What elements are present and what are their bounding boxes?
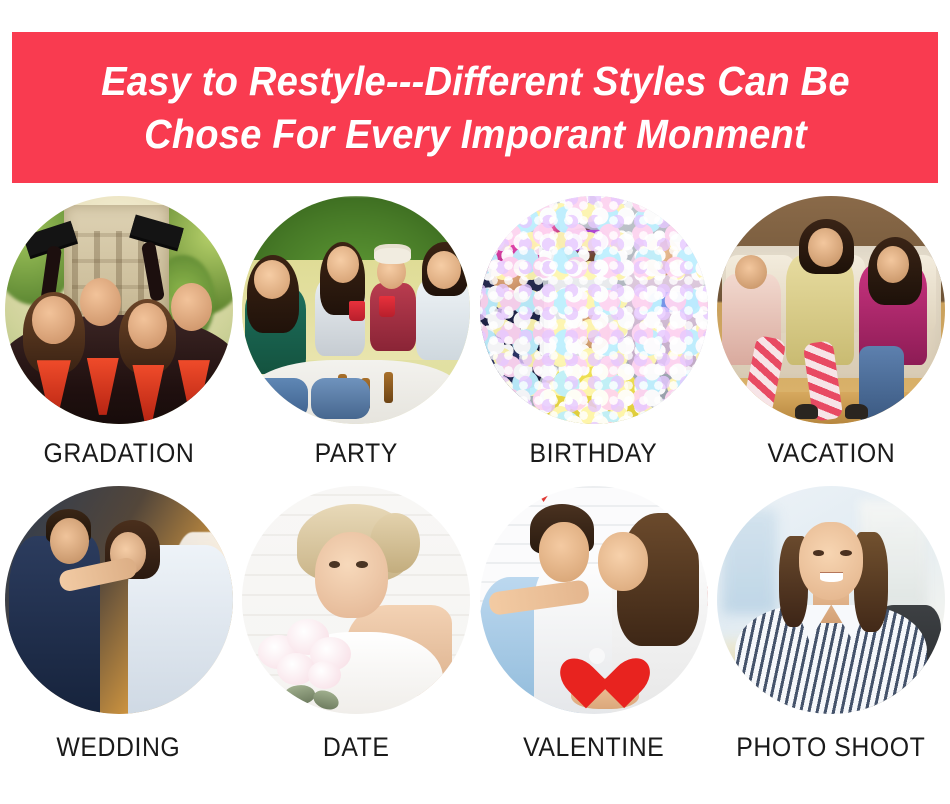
party-photo[interactable] <box>242 196 470 424</box>
occasion-item-wedding[interactable]: WEDDING <box>0 486 238 776</box>
occasion-label: BIRTHDAY <box>530 440 658 467</box>
product-promo-page: Easy to Restyle---Different Styles Can B… <box>0 0 950 804</box>
occasion-item-party[interactable]: PARTY <box>238 196 476 486</box>
headline-text: Easy to Restyle---Different Styles Can B… <box>101 55 850 160</box>
occasion-item-date[interactable]: DATE <box>238 486 476 776</box>
headline-banner: Easy to Restyle---Different Styles Can B… <box>12 32 938 183</box>
valentine-scene <box>480 486 708 714</box>
occasion-item-birthday[interactable]: BIRTHDAY <box>475 196 713 486</box>
wedding-photo[interactable] <box>5 486 233 714</box>
occasion-label: DATE <box>323 734 390 761</box>
valentine-photo[interactable] <box>480 486 708 714</box>
photo-shoot-scene <box>717 486 945 714</box>
gradation-photo[interactable] <box>5 196 233 424</box>
occasion-label: PHOTO SHOOT <box>737 734 926 761</box>
occasion-label: GRADATION <box>43 440 194 467</box>
occasion-label: WEDDING <box>57 734 181 761</box>
birthday-scene <box>480 196 708 424</box>
vacation-scene <box>717 196 945 424</box>
heart-icon <box>576 636 635 691</box>
occasion-label: VALENTINE <box>523 734 664 761</box>
occasion-item-photo-shoot[interactable]: PHOTO SHOOT <box>713 486 950 776</box>
occasion-row-1: GRADATION <box>0 196 950 486</box>
occasion-label: VACATION <box>767 440 895 467</box>
occasion-row-2: WEDDING <box>0 486 950 776</box>
date-scene <box>242 486 470 714</box>
party-scene <box>242 196 470 424</box>
graduation-scene <box>5 196 233 424</box>
occasion-grid: GRADATION <box>0 196 950 776</box>
photo-shoot-photo[interactable] <box>717 486 945 714</box>
occasion-label: PARTY <box>315 440 398 467</box>
vacation-photo[interactable] <box>717 196 945 424</box>
occasion-item-valentine[interactable]: VALENTINE <box>475 486 713 776</box>
date-photo[interactable] <box>242 486 470 714</box>
birthday-photo[interactable] <box>480 196 708 424</box>
occasion-item-vacation[interactable]: VACATION <box>713 196 950 486</box>
wedding-scene <box>5 486 233 714</box>
occasion-item-gradation[interactable]: GRADATION <box>0 196 238 486</box>
